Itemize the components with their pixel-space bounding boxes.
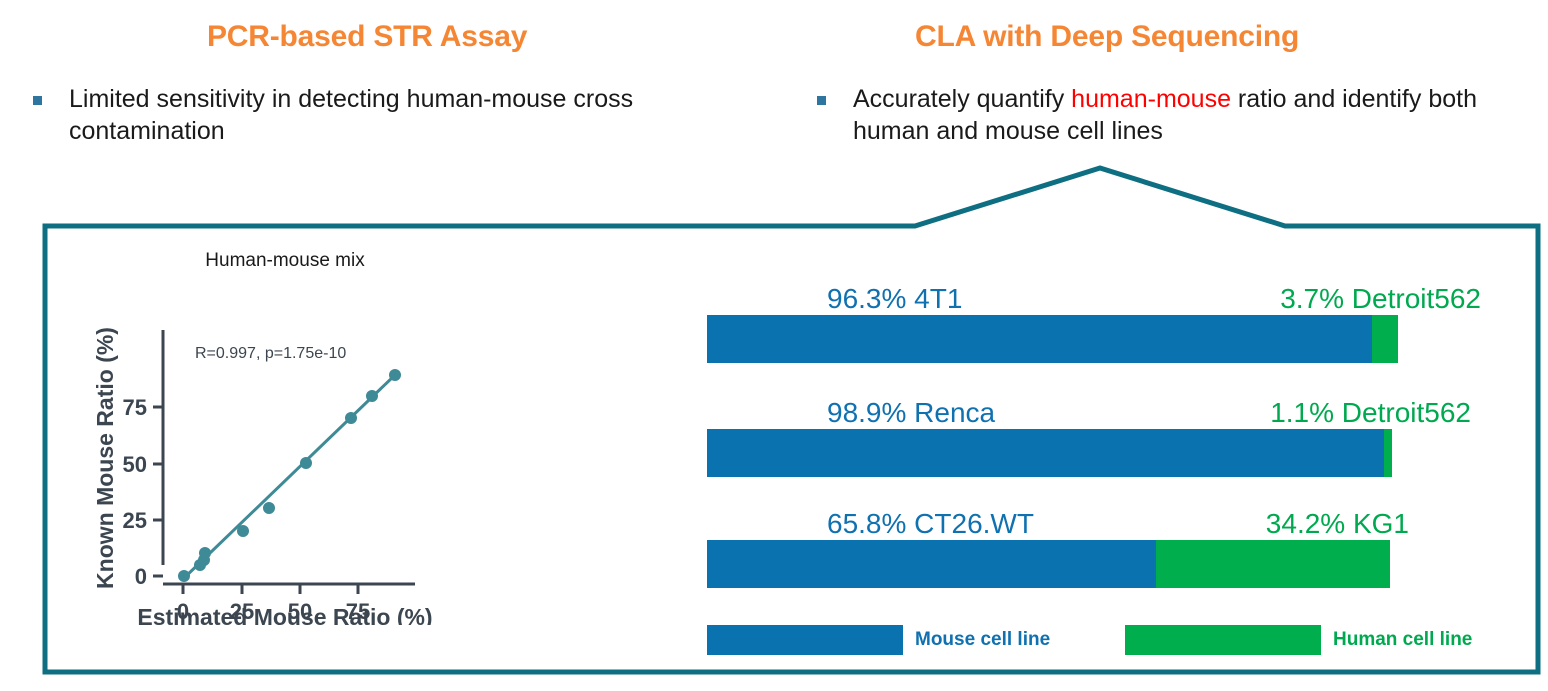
x-axis-label: Estimated Mouse Ratio (%) bbox=[137, 604, 432, 625]
bar-track bbox=[707, 429, 1392, 477]
legend-item-mouse: Mouse cell line bbox=[707, 625, 1050, 655]
scatter-plot: Human-mouse mix 75 50 25 0 0 25 50 75 bbox=[95, 250, 475, 625]
scatter-plot-svg: 75 50 25 0 0 25 50 75 R=0.997, p=1.75e-1… bbox=[95, 280, 475, 625]
scatter-point bbox=[199, 547, 211, 559]
bar-segment-human bbox=[1372, 315, 1398, 363]
scatter-point bbox=[178, 570, 190, 582]
bar-track bbox=[707, 315, 1398, 363]
scatter-point bbox=[389, 369, 401, 381]
y-tick-label-25: 25 bbox=[123, 508, 147, 533]
bar-segment-mouse bbox=[707, 315, 1372, 363]
y-axis-label: Known Mouse Ratio (%) bbox=[95, 327, 118, 589]
scatter-point bbox=[237, 525, 249, 537]
scatter-point bbox=[345, 412, 357, 424]
bullet-square-icon bbox=[817, 96, 826, 105]
bar-mouse-label: 98.9% Renca bbox=[827, 397, 995, 429]
legend-swatch-human-icon bbox=[1125, 625, 1321, 655]
bullet-left: Limited sensitivity in detecting human-m… bbox=[33, 83, 778, 147]
bar-segment-human bbox=[1156, 540, 1390, 588]
scatter-point bbox=[263, 502, 275, 514]
scatter-annotation: R=0.997, p=1.75e-10 bbox=[195, 345, 346, 362]
bullet-right-text-pre: Accurately quantify bbox=[853, 85, 1071, 113]
bar-row-labels: 65.8% CT26.WT 34.2% KG1 bbox=[707, 506, 1507, 540]
bar-segment-human bbox=[1384, 429, 1392, 477]
bar-row-labels: 98.9% Renca 1.1% Detroit562 bbox=[707, 395, 1507, 429]
bar-row-labels: 96.3% 4T1 3.7% Detroit562 bbox=[707, 281, 1507, 315]
chart-legend: Mouse cell line Human cell line bbox=[707, 625, 1497, 655]
y-tick-label-50: 50 bbox=[123, 452, 147, 477]
bullet-right-text: Accurately quantify human-mouse ratio an… bbox=[853, 83, 1477, 147]
bar-segment-mouse bbox=[707, 429, 1384, 477]
bar-human-label: 1.1% Detroit562 bbox=[1270, 397, 1471, 429]
bar-mouse-label: 65.8% CT26.WT bbox=[827, 508, 1034, 540]
legend-item-human: Human cell line bbox=[1125, 625, 1472, 655]
slide-canvas: PCR-based STR Assay CLA with Deep Sequen… bbox=[0, 0, 1548, 691]
scatter-point bbox=[366, 390, 378, 402]
bar-human-label: 34.2% KG1 bbox=[1266, 508, 1409, 540]
legend-label-human: Human cell line bbox=[1333, 629, 1472, 651]
bar-track bbox=[707, 540, 1390, 588]
bar-mouse-label: 96.3% 4T1 bbox=[827, 283, 962, 315]
heading-cla-deep-sequencing: CLA with Deep Sequencing bbox=[915, 20, 1299, 54]
bullet-right-highlight: human-mouse bbox=[1071, 85, 1231, 113]
bullet-square-icon bbox=[33, 96, 42, 105]
bar-human-label: 3.7% Detroit562 bbox=[1280, 283, 1481, 315]
scatter-fit-line bbox=[183, 375, 395, 579]
y-tick-label-0: 0 bbox=[135, 564, 147, 589]
scatter-plot-title: Human-mouse mix bbox=[95, 250, 475, 272]
bar-segment-mouse bbox=[707, 540, 1156, 588]
legend-swatch-mouse-icon bbox=[707, 625, 903, 655]
bullet-right: Accurately quantify human-mouse ratio an… bbox=[817, 83, 1477, 147]
bullet-left-text: Limited sensitivity in detecting human-m… bbox=[69, 83, 778, 147]
heading-pcr-str-assay: PCR-based STR Assay bbox=[207, 20, 527, 54]
legend-label-mouse: Mouse cell line bbox=[915, 629, 1050, 651]
scatter-point bbox=[300, 457, 312, 469]
y-tick-label-75: 75 bbox=[123, 395, 147, 420]
